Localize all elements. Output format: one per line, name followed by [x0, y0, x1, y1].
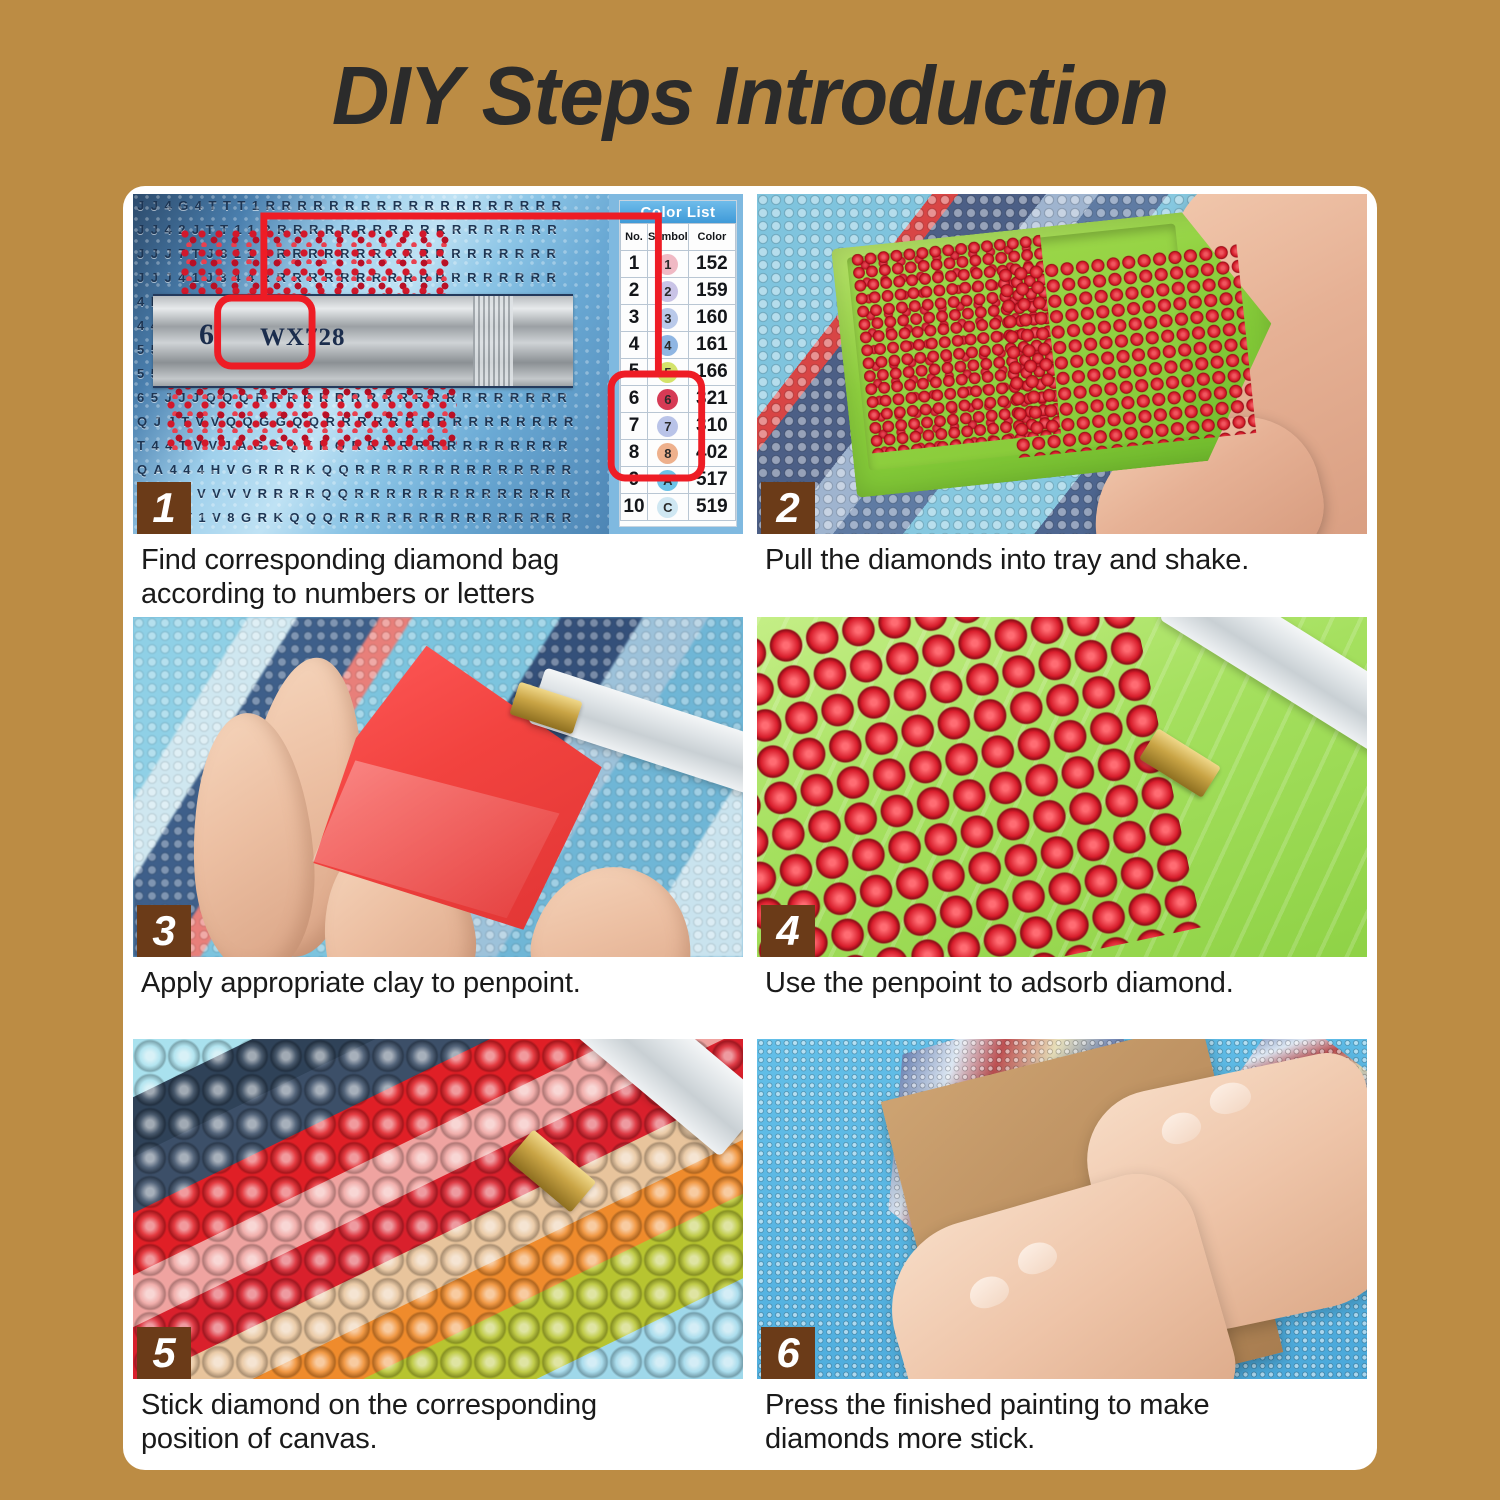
- color-list-header-0: No.: [621, 224, 648, 251]
- step-3-photo: 3: [133, 617, 743, 957]
- step-1: JJ4G4TTT1RRRRRRRRRRRRRRRRRRRJJ42JTT11RRR…: [133, 194, 743, 617]
- step-6-caption: Press the finished painting to make diam…: [757, 1379, 1367, 1462]
- step-1-photo: JJ4G4TTT1RRRRRRRRRRRRRRRRRRRJJ42JTT11RRR…: [133, 194, 743, 534]
- color-list-symbol: 2: [648, 278, 689, 305]
- symbol-chip: 7: [657, 416, 678, 437]
- color-list-symbol: A: [648, 467, 689, 494]
- canvas-symbol-row: JQR4VVVVRRRRQQRRRRRRRRRRRRRR: [137, 486, 609, 503]
- diamond-rows: [757, 617, 1202, 957]
- steps-card: JJ4G4TTT1RRRRRRRRRRRRRRRRRRRJJ42JTT11RRR…: [123, 186, 1377, 1470]
- diamond-bag: [153, 294, 573, 388]
- canvas-symbol-row: JJ4G4TTT1RRRRRRRRRRRRRRRRRRR: [137, 198, 609, 215]
- color-list-symbol: 6: [648, 386, 689, 413]
- step-5-caption-line1: Stick diamond on the corresponding: [141, 1389, 739, 1423]
- step-badge-5: 5: [137, 1327, 191, 1379]
- color-list-title: Color List: [620, 201, 736, 223]
- step-5-caption-line2: position of canvas.: [141, 1423, 739, 1457]
- step-5: 5 Stick diamond on the corresponding pos…: [133, 1039, 743, 1462]
- color-list-color: 160: [688, 305, 735, 332]
- bag-number-text: 6: [199, 318, 214, 352]
- color-list-color: 310: [688, 413, 735, 440]
- step-badge-2: 2: [761, 482, 815, 534]
- symbol-chip: C: [657, 497, 678, 518]
- symbol-chip: 5: [657, 362, 678, 383]
- color-list-row: 55166: [621, 359, 736, 386]
- color-list-symbol: 7: [648, 413, 689, 440]
- color-list-symbol: 8: [648, 440, 689, 467]
- step-2-caption-line1: Pull the diamonds into tray and shake.: [765, 544, 1363, 578]
- symbol-chip: 6: [657, 389, 678, 410]
- step-1-caption: Find corresponding diamond bag according…: [133, 534, 743, 617]
- step-5-caption: Stick diamond on the corresponding posit…: [133, 1379, 743, 1462]
- color-list-no: 10: [621, 494, 648, 521]
- step-3-caption: Apply appropriate clay to penpoint.: [133, 957, 743, 1040]
- color-list-row: 11152: [621, 251, 736, 278]
- step-6-caption-line1: Press the finished painting to make: [765, 1389, 1363, 1423]
- color-list-body: 1115222159331604416155166663217731088402…: [621, 251, 736, 521]
- color-list-color: 152: [688, 251, 735, 278]
- color-list-no: 2: [621, 278, 648, 305]
- color-list-symbol: 1: [648, 251, 689, 278]
- steps-grid: JJ4G4TTT1RRRRRRRRRRRRRRRRRRRJJ42JTT11RRR…: [123, 186, 1377, 1470]
- tray-diamonds-rows: [998, 244, 1257, 458]
- step-4-photo: 4: [757, 617, 1367, 957]
- step-1-caption-line2: according to numbers or letters: [141, 578, 739, 612]
- color-list-header-2: Color: [688, 224, 735, 251]
- step-6: e Boo 6 Press the finished painting to m…: [757, 1039, 1367, 1462]
- step-5-photo: 5: [133, 1039, 743, 1379]
- page-title: DIY Steps Introduction: [30, 52, 1470, 139]
- step-6-caption-line2: diamonds more stick.: [765, 1423, 1363, 1457]
- color-list-row: 10C519: [621, 494, 736, 521]
- color-list-symbol: 3: [648, 305, 689, 332]
- symbol-chip: 2: [657, 281, 678, 302]
- color-list-row: 33160: [621, 305, 736, 332]
- step-badge-1: 1: [137, 482, 191, 534]
- color-list-no: 7: [621, 413, 648, 440]
- color-list-color: 161: [688, 332, 735, 359]
- step-3: 3 Apply appropriate clay to penpoint.: [133, 617, 743, 1040]
- color-list-no: 1: [621, 251, 648, 278]
- color-list-no: 9: [621, 467, 648, 494]
- step-2-photo: 2: [757, 194, 1367, 534]
- step-2: 2 Pull the diamonds into tray and shake.: [757, 194, 1367, 617]
- color-list-header-1: Symbol: [648, 224, 689, 251]
- color-list-row: 9A517: [621, 467, 736, 494]
- color-list-panel: Color List No.SymbolColor 11152221593316…: [619, 200, 737, 527]
- color-list-row: 44161: [621, 332, 736, 359]
- symbol-chip: A: [657, 470, 678, 491]
- color-list-row: 77310: [621, 413, 736, 440]
- step-4-caption: Use the penpoint to adsorb diamond.: [757, 957, 1367, 1040]
- step-badge-4: 4: [761, 905, 815, 957]
- step-badge-6: 6: [761, 1327, 815, 1379]
- color-list-color: 166: [688, 359, 735, 386]
- bag-zip-seal: [473, 296, 513, 386]
- color-list-no: 6: [621, 386, 648, 413]
- step-badge-3: 3: [137, 905, 191, 957]
- color-list-color: 519: [688, 494, 735, 521]
- canvas-symbol-row: QRJV1V8GRKQQQRRRRRRRRRRRRRRR: [137, 510, 609, 527]
- step-1-caption-line1: Find corresponding diamond bag: [141, 544, 739, 578]
- color-list-color: 159: [688, 278, 735, 305]
- color-list-no: 4: [621, 332, 648, 359]
- diamond-pile-bottom: [167, 382, 457, 456]
- step-3-caption-line1: Apply appropriate clay to penpoint.: [141, 967, 739, 1001]
- symbol-chip: 4: [657, 335, 678, 356]
- color-list-symbol: 5: [648, 359, 689, 386]
- step-4: 4 Use the penpoint to adsorb diamond.: [757, 617, 1367, 1040]
- color-list-table: No.SymbolColor 1115222159331604416155166…: [620, 223, 736, 521]
- bag-code-text: WX728: [260, 324, 346, 352]
- color-list-no: 3: [621, 305, 648, 332]
- color-list-no: 8: [621, 440, 648, 467]
- poster-root: DIY Steps Introduction JJ4G4TTT1RRRRRRRR…: [0, 0, 1500, 1500]
- color-list-color: 321: [688, 386, 735, 413]
- step-6-photo: e Boo 6: [757, 1039, 1367, 1379]
- color-list-row: 22159: [621, 278, 736, 305]
- color-list-color: 517: [688, 467, 735, 494]
- color-list-color: 402: [688, 440, 735, 467]
- color-list-no: 5: [621, 359, 648, 386]
- symbol-chip: 3: [657, 308, 678, 329]
- step-4-caption-line1: Use the penpoint to adsorb diamond.: [765, 967, 1363, 1001]
- color-list-header-row: No.SymbolColor: [621, 224, 736, 251]
- color-list-row: 66321: [621, 386, 736, 413]
- symbol-chip: 1: [657, 254, 678, 275]
- color-list-row: 88402: [621, 440, 736, 467]
- canvas-symbol-row: QA444HVGRRRKQQRRRRRRRRRRRRRR: [137, 462, 609, 479]
- symbol-chip: 8: [657, 443, 678, 464]
- color-list-symbol: C: [648, 494, 689, 521]
- color-list-symbol: 4: [648, 332, 689, 359]
- step-2-caption: Pull the diamonds into tray and shake.: [757, 534, 1367, 617]
